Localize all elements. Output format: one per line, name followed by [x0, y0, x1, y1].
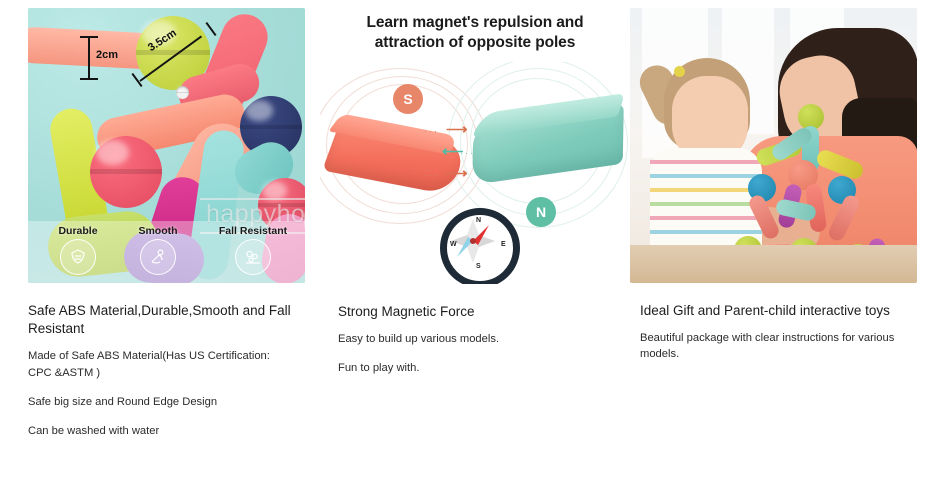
drop-test-icon: [235, 239, 271, 275]
feature-badge-smooth: Smooth: [116, 225, 200, 275]
left-body-0: Made of Safe ABS Material(Has US Certifi…: [28, 348, 296, 380]
shirt-stripe: [650, 230, 762, 234]
feature-badge-label: Durable: [36, 225, 120, 237]
magnet-heading-line1: Learn magnet's repulsion and: [366, 14, 583, 31]
left-body-1: Safe big size and Round Edge Design: [28, 394, 296, 410]
compass-icon: N E S W: [440, 208, 520, 284]
left-body-2: Can be washed with water: [28, 423, 296, 439]
middle-text-block: Strong Magnetic Force Easy to build up v…: [338, 303, 608, 377]
shirt-stripe: [650, 188, 762, 192]
feature-badge-strip: Durable Smooth: [28, 221, 305, 283]
right-body-0: Beautiful package with clear instruction…: [640, 330, 920, 362]
table-surface: [630, 245, 917, 283]
compass-label-e: E: [501, 241, 506, 248]
force-arrow-left: ⟵: [442, 144, 464, 159]
left-column: 2cm 3.5cm happyhouse Durable: [0, 0, 320, 490]
right-text-block: Ideal Gift and Parent-child interactive …: [640, 302, 920, 363]
force-arrow-right-1: ⟶: [446, 122, 468, 137]
feature-badge-label: Fall Resistant: [198, 225, 305, 237]
feature-badge-durable: Durable: [36, 225, 120, 275]
middle-column: Learn magnet's repulsion and attraction …: [320, 0, 630, 490]
feature-badge-label: Smooth: [116, 225, 200, 237]
compass-label-n: N: [476, 217, 481, 224]
child-hair-tie: [674, 66, 685, 77]
shield-icon: [60, 239, 96, 275]
middle-title: Strong Magnetic Force: [338, 303, 608, 321]
compass-label-s: S: [476, 263, 481, 270]
polish-hand-icon: [140, 239, 176, 275]
magnetic-sticks-closeup-photo: 2cm 3.5cm happyhouse Durable: [28, 8, 305, 283]
feature-badge-fall-resistant: Fall Resistant: [198, 225, 305, 275]
shirt-stripe: [650, 174, 762, 178]
force-dots-3: ···: [424, 170, 439, 180]
mother-and-child-playing-photo: [630, 8, 917, 283]
shirt-stripe: [650, 202, 762, 206]
product-feature-banner: 2cm 3.5cm happyhouse Durable: [0, 0, 950, 490]
dimension-cap-bottom: [80, 78, 98, 80]
compass-label-w: W: [450, 241, 457, 248]
pole-badge-north: N: [526, 197, 556, 227]
magnet-heading: Learn magnet's repulsion and attraction …: [328, 13, 622, 54]
magnet-heading-line2: attraction of opposite poles: [375, 34, 575, 51]
toy-rod-socket: [176, 86, 189, 99]
middle-body-0: Easy to build up various models.: [338, 331, 608, 347]
force-arrow-right-2: ⟶: [446, 166, 468, 181]
shirt-stripe: [650, 160, 762, 164]
shirt-stripe: [650, 216, 762, 220]
pole-badge-south: S: [393, 84, 423, 114]
right-column: Ideal Gift and Parent-child interactive …: [630, 0, 950, 490]
dimension-label-height: 2cm: [96, 49, 118, 61]
middle-body-1: Fun to play with.: [338, 360, 608, 376]
toy-ball-pink: [90, 136, 162, 208]
dimension-line-vertical: [88, 36, 90, 80]
left-title: Safe ABS Material,Durable,Smooth and Fal…: [28, 302, 296, 338]
left-text-block: Safe ABS Material,Durable,Smooth and Fal…: [28, 302, 296, 439]
right-title: Ideal Gift and Parent-child interactive …: [640, 302, 920, 320]
magnet-poles-diagram: S N ··· ⟶ ··· ⟵ ··· ⟶ N E S: [320, 62, 630, 284]
force-dots-1: ···: [424, 126, 439, 136]
